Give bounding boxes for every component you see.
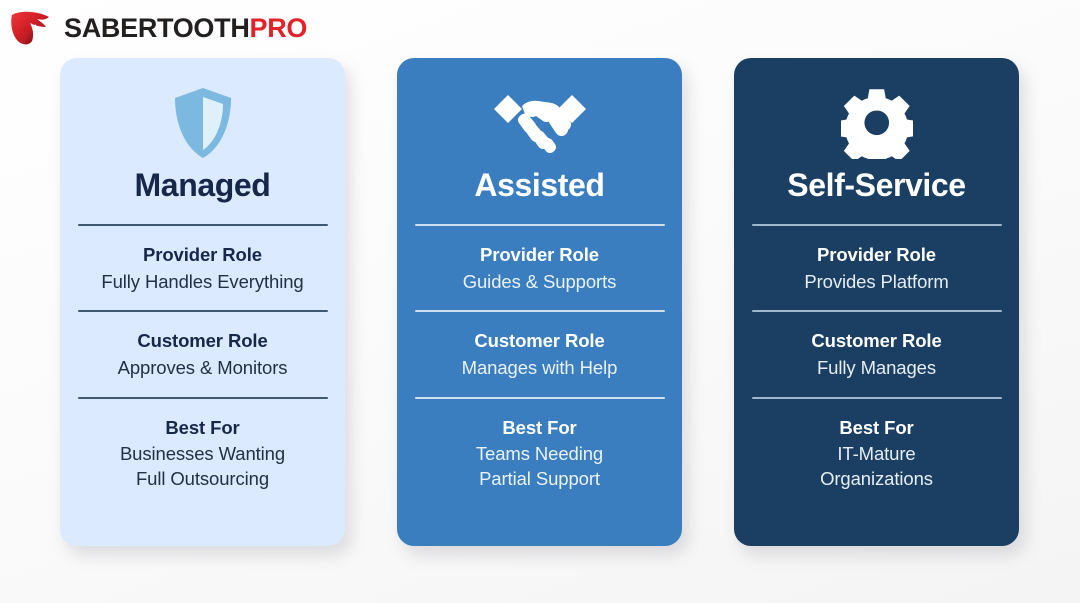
handshake-icon <box>492 84 588 162</box>
card-title: Self-Service <box>787 168 965 203</box>
row-value: Guides & Supports <box>417 270 662 295</box>
row-label: Provider Role <box>754 242 999 268</box>
row-label: Provider Role <box>80 242 325 268</box>
row-provider-role: Provider Role Guides & Supports <box>417 226 662 294</box>
card-managed[interactable]: Managed Provider Role Fully Handles Ever… <box>60 58 345 546</box>
row-label: Best For <box>754 415 999 441</box>
row-value: IT-Mature Organizations <box>754 442 999 492</box>
card-self-service[interactable]: Self-Service Provider Role Provides Plat… <box>734 58 1019 546</box>
row-label: Best For <box>80 415 325 441</box>
card-assisted[interactable]: Assisted Provider Role Guides & Supports… <box>397 58 682 546</box>
row-customer-role: Customer Role Fully Manages <box>754 312 999 380</box>
shield-icon <box>171 84 235 162</box>
row-value: Businesses Wanting Full Outsourcing <box>80 442 325 492</box>
row-best-for: Best For Teams Needing Partial Support <box>417 399 662 492</box>
row-label: Best For <box>417 415 662 441</box>
row-customer-role: Customer Role Approves & Monitors <box>80 312 325 380</box>
service-tier-cards: Managed Provider Role Fully Handles Ever… <box>60 58 1020 546</box>
row-value: Fully Manages <box>754 356 999 381</box>
row-value: Manages with Help <box>417 356 662 381</box>
row-best-for: Best For IT-Mature Organizations <box>754 399 999 492</box>
row-provider-role: Provider Role Fully Handles Everything <box>80 226 325 294</box>
row-label: Customer Role <box>754 328 999 354</box>
row-best-for: Best For Businesses Wanting Full Outsour… <box>80 399 325 492</box>
card-title: Assisted <box>474 168 604 203</box>
row-provider-role: Provider Role Provides Platform <box>754 226 999 294</box>
brand-name-secondary: PRO <box>250 13 308 43</box>
row-value: Fully Handles Everything <box>80 270 325 295</box>
brand-name: SABERTOOTHPRO <box>64 15 307 42</box>
brand-name-primary: SABERTOOTH <box>64 13 250 43</box>
row-label: Customer Role <box>417 328 662 354</box>
row-customer-role: Customer Role Manages with Help <box>417 312 662 380</box>
row-label: Customer Role <box>80 328 325 354</box>
row-value: Provides Platform <box>754 270 999 295</box>
gear-icon <box>841 84 913 162</box>
brand-logo: SABERTOOTHPRO <box>8 6 307 50</box>
row-label: Provider Role <box>417 242 662 268</box>
row-value: Teams Needing Partial Support <box>417 442 662 492</box>
row-value: Approves & Monitors <box>80 356 325 381</box>
sabertooth-logo-icon <box>8 8 54 48</box>
card-title: Managed <box>135 168 271 203</box>
